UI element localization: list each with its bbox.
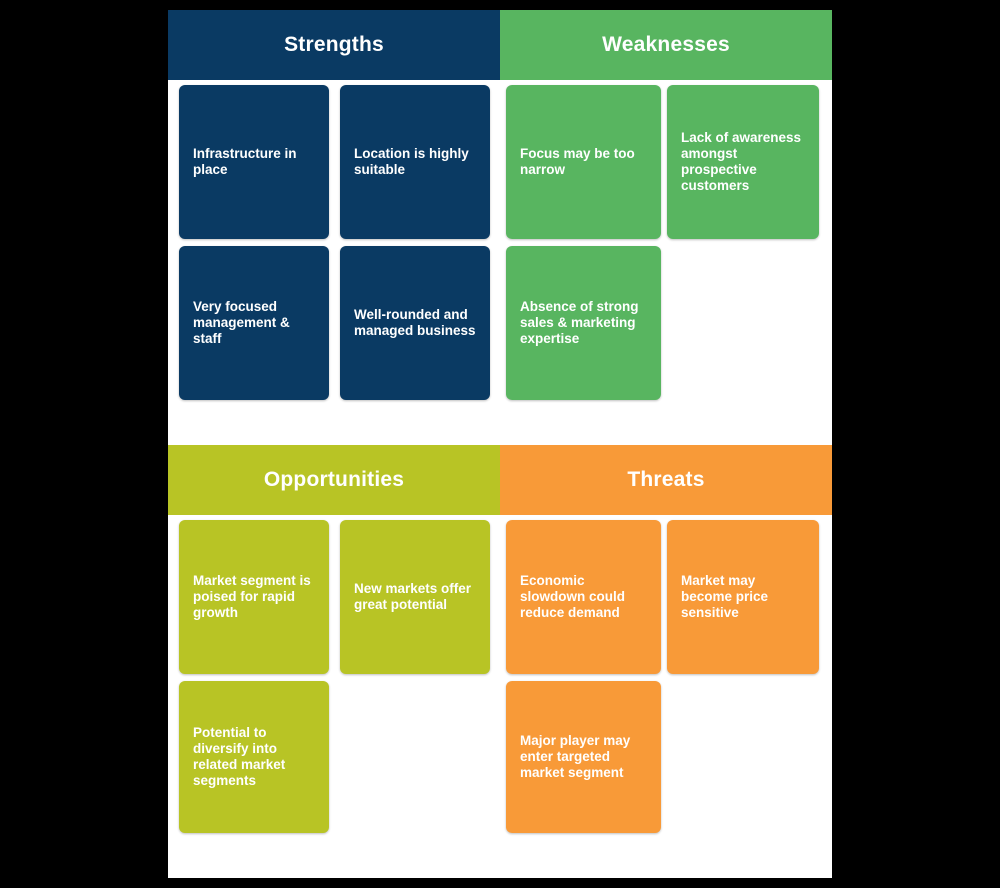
swot-canvas: Strengths Weaknesses Infrastructure in p… (0, 0, 1000, 888)
header-row-top: Strengths Weaknesses (168, 10, 832, 80)
swot-card-label: Location is highly suitable (354, 146, 476, 178)
swot-card-empty-slot (667, 681, 822, 833)
header-row-bottom: Opportunities Threats (168, 445, 832, 515)
quadrant-header-threats[interactable]: Threats (500, 445, 832, 515)
swot-card-threats-3[interactable]: Major player may enter targeted market s… (506, 681, 661, 833)
card-row: Market segment is poised for rapid growt… (168, 520, 500, 674)
quadrant-body-strengths: Infrastructure in place Location is high… (168, 80, 500, 407)
swot-card-opportunities-1[interactable]: Market segment is poised for rapid growt… (179, 520, 329, 674)
swot-card-strengths-3[interactable]: Very focused management & staff (179, 246, 329, 400)
card-row: Absence of strong sales & marketing expe… (500, 246, 832, 400)
swot-card-weaknesses-1[interactable]: Focus may be too narrow (506, 85, 661, 239)
quadrant-header-weaknesses[interactable]: Weaknesses (500, 10, 832, 80)
quadrant-body-opportunities: Market segment is poised for rapid growt… (168, 515, 500, 878)
swot-half-bottom: Opportunities Threats Market segment is … (168, 445, 832, 878)
card-row: Major player may enter targeted market s… (500, 681, 832, 833)
swot-card-label: Very focused management & staff (193, 299, 315, 347)
swot-card-strengths-2[interactable]: Location is highly suitable (340, 85, 490, 239)
swot-matrix: Strengths Weaknesses Infrastructure in p… (168, 10, 832, 878)
quadrant-header-opportunities[interactable]: Opportunities (168, 445, 500, 515)
swot-card-strengths-4[interactable]: Well-rounded and managed business (340, 246, 490, 400)
swot-card-label: Lack of awareness amongst prospective cu… (681, 130, 805, 194)
swot-card-label: Well-rounded and managed business (354, 307, 476, 339)
swot-card-threats-2[interactable]: Market may become price sensitive (667, 520, 819, 674)
swot-card-label: Focus may be too narrow (520, 146, 647, 178)
quadrant-title-opportunities: Opportunities (264, 468, 404, 492)
swot-card-label: Market may become price sensitive (681, 573, 805, 621)
card-row: Infrastructure in place Location is high… (168, 85, 500, 239)
swot-card-empty-slot (340, 681, 490, 833)
swot-card-label: New markets offer great potential (354, 581, 476, 613)
swot-card-opportunities-2[interactable]: New markets offer great potential (340, 520, 490, 674)
card-row: Focus may be too narrow Lack of awarenes… (500, 85, 832, 239)
swot-card-label: Absence of strong sales & marketing expe… (520, 299, 647, 347)
swot-card-label: Economic slowdown could reduce demand (520, 573, 647, 621)
swot-card-label: Potential to diversify into related mark… (193, 725, 315, 789)
swot-card-label: Market segment is poised for rapid growt… (193, 573, 315, 621)
body-row-top: Infrastructure in place Location is high… (168, 80, 832, 407)
quadrant-body-weaknesses: Focus may be too narrow Lack of awarenes… (500, 80, 832, 407)
swot-card-threats-1[interactable]: Economic slowdown could reduce demand (506, 520, 661, 674)
quadrant-body-threats: Economic slowdown could reduce demand Ma… (500, 515, 832, 878)
quadrant-header-strengths[interactable]: Strengths (168, 10, 500, 80)
swot-card-label: Major player may enter targeted market s… (520, 733, 647, 781)
swot-card-weaknesses-2[interactable]: Lack of awareness amongst prospective cu… (667, 85, 819, 239)
quadrant-title-strengths: Strengths (284, 33, 384, 57)
quadrant-title-weaknesses: Weaknesses (602, 33, 730, 57)
card-row: Potential to diversify into related mark… (168, 681, 500, 833)
swot-card-opportunities-3[interactable]: Potential to diversify into related mark… (179, 681, 329, 833)
swot-section-divider (168, 403, 832, 445)
quadrant-title-threats: Threats (627, 468, 704, 492)
swot-half-top: Strengths Weaknesses Infrastructure in p… (168, 10, 832, 403)
swot-card-strengths-1[interactable]: Infrastructure in place (179, 85, 329, 239)
body-row-bottom: Market segment is poised for rapid growt… (168, 515, 832, 878)
swot-card-weaknesses-3[interactable]: Absence of strong sales & marketing expe… (506, 246, 661, 400)
card-row: Very focused management & staff Well-rou… (168, 246, 500, 400)
swot-card-empty-slot (667, 246, 822, 400)
card-row: Economic slowdown could reduce demand Ma… (500, 520, 832, 674)
swot-card-label: Infrastructure in place (193, 146, 315, 178)
